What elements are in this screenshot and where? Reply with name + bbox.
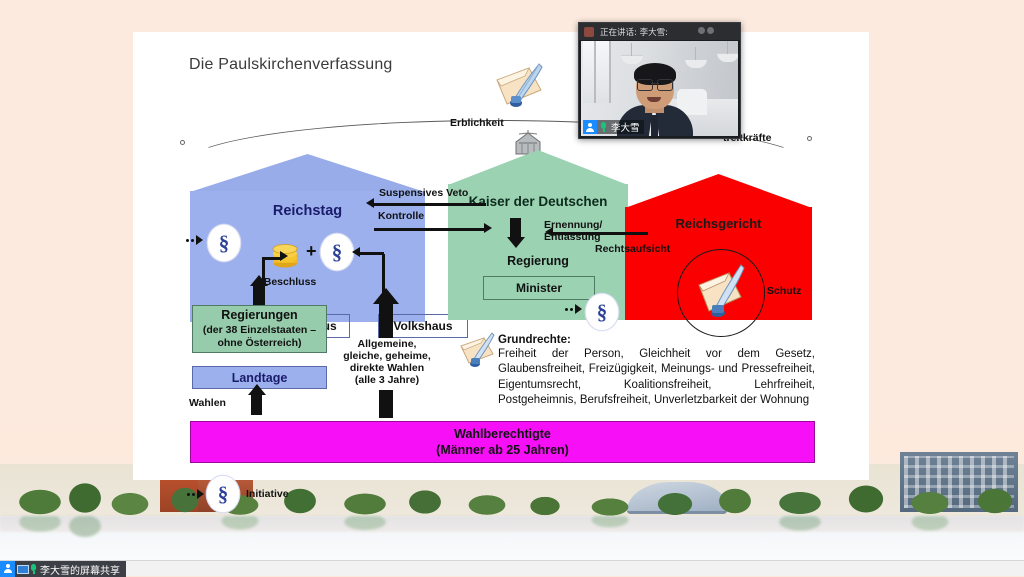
zoom-video-window[interactable]: 正在讲话: 李大雪: 李大雪 [578,22,741,139]
reichsgericht-roof [625,174,812,208]
kaiser-house: Kaiser der Deutschen Ernennung/ Entlassu… [448,150,628,320]
label-wahlen: Wahlen [189,397,226,409]
paragraph-seal-icon: § [210,227,238,259]
background-treeline [0,482,1024,520]
legend-initiative-label: Initiative [246,488,289,500]
arrow-head [280,251,288,261]
minister-box: Minister [483,276,595,300]
microphone-icon [28,561,39,577]
window-controls[interactable] [698,27,714,34]
background-water-reflection [0,516,1024,550]
active-speaker-label: 正在讲话: 李大雪: [600,26,668,38]
paragraph-seal-icon: § [588,296,616,328]
label-erblichkeit: Erblichkeit [450,117,504,129]
taskbar-screenshare-item[interactable]: 李大雪的屏幕共享 [0,561,126,577]
kaiser-roof [448,150,628,185]
arrow-shaft [360,252,384,255]
wahlen-line4: (alle 3 Jahre) [339,374,435,386]
speaker-icon [584,27,594,37]
regierungen-box: Regierungen (der 38 Einzelstaaten – ohne… [192,305,327,353]
arrow-shaft [510,218,521,238]
taskbar-item-label: 李大雪的屏幕共享 [40,562,120,577]
initiative-dotted-arrow [565,304,582,314]
taskbar: 李大雪的屏幕共享 [0,560,1024,576]
label-suspensives-veto: Suspensives Veto [379,187,468,199]
arrow-shaft [251,393,262,415]
label-regierung: Regierung [468,254,608,268]
grundrechte-heading: Grundrechte: [498,334,815,346]
arrow-head [352,247,360,257]
arrow-shaft [379,302,393,338]
paragraph-glyph: § [588,296,616,328]
minister-label: Minister [516,281,562,295]
person-icon [583,120,597,134]
paragraph-glyph: § [209,478,237,510]
zoom-window-header[interactable]: 正在讲话: 李大雪: [579,23,740,40]
arrow-shaft [379,390,393,418]
participant-name: 李大雪 [611,120,640,134]
arrow-head [507,237,525,248]
arrow-head [545,227,553,237]
kaiser-label: Kaiser der Deutschen [448,194,628,209]
initiative-dotted-arrow [186,235,203,245]
arrow-shaft [553,232,648,235]
wahlen-line3: direkte Wahlen [334,362,440,374]
glasses-bridge [651,83,659,84]
participant-tie [651,115,658,136]
paragraph-seal-icon: § [209,478,237,510]
quill-document-icon [491,60,549,112]
quill-document-icon [691,263,753,323]
arrow-shaft [262,257,282,260]
label-rechtsaufsicht: Rechtsaufsicht [595,243,670,255]
arrow-head [248,384,266,395]
landtage-label: Landtage [232,371,288,385]
shared-slide: Die Paulskirchenverfassung Erblichkeit t… [133,32,869,480]
wahlen-line2: gleiche, geheime, [332,350,442,362]
arrow-shaft [374,228,486,231]
page-title: Die Paulskirchenverfassung [189,56,393,74]
paragraph-glyph: § [323,236,351,268]
arrow-head [373,288,399,304]
legend: § Initiative [187,478,289,510]
arrow-head [484,223,492,233]
arrow-shaft [253,284,264,306]
arc-end-cap [180,140,185,145]
control-dot[interactable] [698,27,705,34]
label-kontrolle: Kontrolle [378,210,424,222]
plus-sign: + [306,241,317,262]
reichsgericht-body: Reichsgericht Schutz [625,207,812,320]
label-schutz: Schutz [767,285,801,297]
screen-share-icon [15,561,28,577]
zoom-video-feed[interactable]: 李大雪 [581,41,738,136]
paragraph-seal-icon: § [323,236,351,268]
microphone-icon [598,120,609,134]
volkshaus-label: Volkshaus [393,319,452,333]
arc-end-cap [807,136,812,141]
quill-document-icon [457,332,499,370]
wahlberechtigte-bar: Wahlberechtigte (Männer ab 25 Jahren) [190,421,815,463]
regierungen-title: Regierungen [221,308,297,324]
arrow-shaft [374,203,486,206]
regierungen-sub2: ohne Österreich) [217,337,301,350]
wahlberechtigte-line1: Wahlberechtigte [454,426,551,442]
initiative-dotted-arrow [187,489,204,499]
regierungen-sub1: (der 38 Einzelstaaten – [203,324,316,337]
arrow-head [366,198,374,208]
control-dot[interactable] [707,27,714,34]
reichsgericht-label: Reichsgericht [625,216,812,231]
wahlberechtigte-line2: (Männer ab 25 Jahren) [436,442,569,458]
participant-name-badge: 李大雪 [583,120,644,134]
person-icon [0,561,15,577]
paragraph-glyph: § [210,227,238,259]
video-background-window [583,41,611,103]
grundrechte-block: Grundrechte: Freiheit der Person, Gleich… [498,334,815,408]
arrow-head [250,275,268,286]
wahlen-line1: Allgemeine, [342,338,432,350]
grundrechte-body: Freiheit der Person, Gleichheit vor dem … [498,347,815,408]
